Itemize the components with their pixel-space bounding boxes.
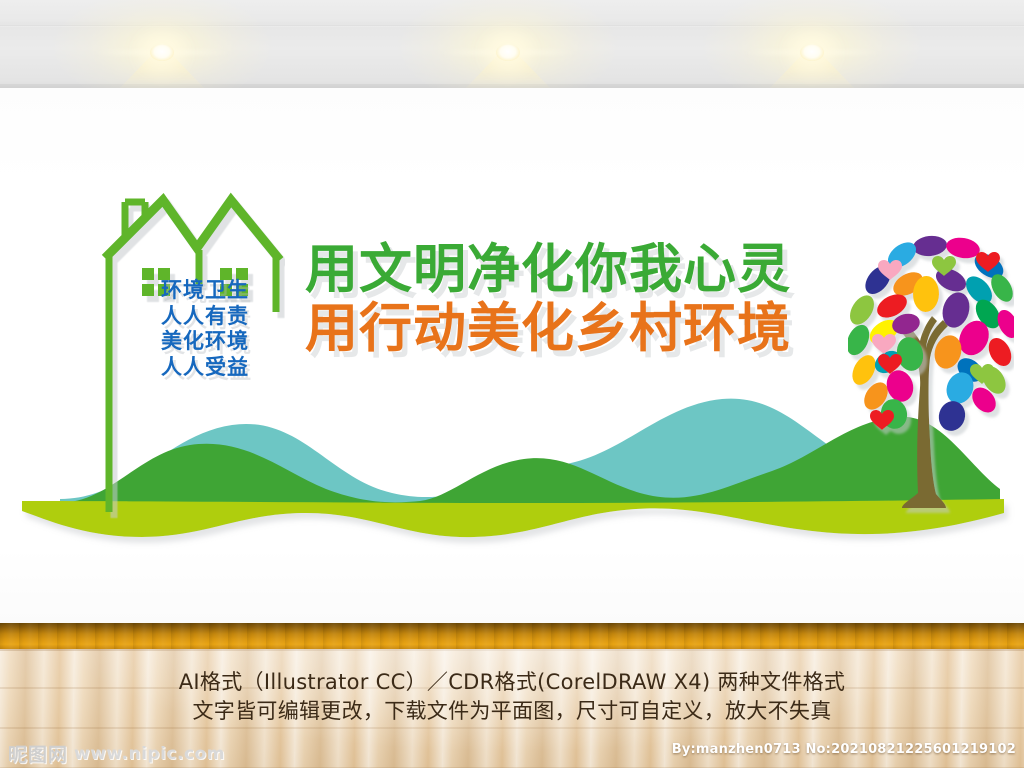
ceiling-spotlight-3 [812, 0, 813, 88]
spotlight-bulb-icon [800, 44, 824, 61]
ceiling-spotlight-2 [508, 0, 509, 88]
footer-text-block: AI格式（Illustrator CC）／CDR格式(CorelDRAW X4)… [0, 668, 1024, 726]
author-credit: By:manzhen0713 No:20210821225601219102 [672, 742, 1016, 757]
house-roof [105, 200, 280, 260]
spotlight-bulb-icon [496, 44, 520, 61]
skirting-grain [0, 623, 1024, 649]
slogan-line-1: 环境卫生 [145, 278, 265, 304]
tree-leaves [848, 234, 1014, 434]
footer-line-1: AI格式（Illustrator CC）／CDR格式(CorelDRAW X4)… [0, 668, 1024, 696]
watermark-site-name: 昵图网 [8, 740, 68, 767]
spotlight-bulb-icon [150, 44, 174, 61]
ceiling-spotlight-1 [162, 0, 163, 88]
ceiling [0, 0, 1024, 88]
slogan-block: 环境卫生 人人有责 美化环境 人人受益 [145, 278, 265, 380]
colorful-leaf-tree-icon [848, 228, 1014, 528]
screenshot-root: 环境卫生 人人有责 美化环境 人人受益 用文明净化你我心灵 用行动美化乡村环境 [0, 0, 1024, 768]
headline-line-2: 用行动美化乡村环境 [305, 299, 845, 358]
site-watermark: 昵图网 www.nipic.com [8, 740, 225, 767]
floor-skirting-board [0, 623, 1024, 649]
wall-mural-artwork: 环境卫生 人人有责 美化环境 人人受益 用文明净化你我心灵 用行动美化乡村环境 [0, 88, 1024, 623]
slogan-line-2: 人人有责 [145, 304, 265, 330]
slogan-line-3: 美化环境 [145, 329, 265, 355]
headline-line-1: 用文明净化你我心灵 [305, 240, 845, 299]
slogan-line-4: 人人受益 [145, 355, 265, 381]
footer-line-2: 文字皆可编辑更改，下载文件为平面图，尺寸可自定义，放大不失真 [0, 696, 1024, 726]
watermark-site-url: www.nipic.com [74, 744, 225, 764]
headline-block: 用文明净化你我心灵 用行动美化乡村环境 [305, 240, 845, 359]
